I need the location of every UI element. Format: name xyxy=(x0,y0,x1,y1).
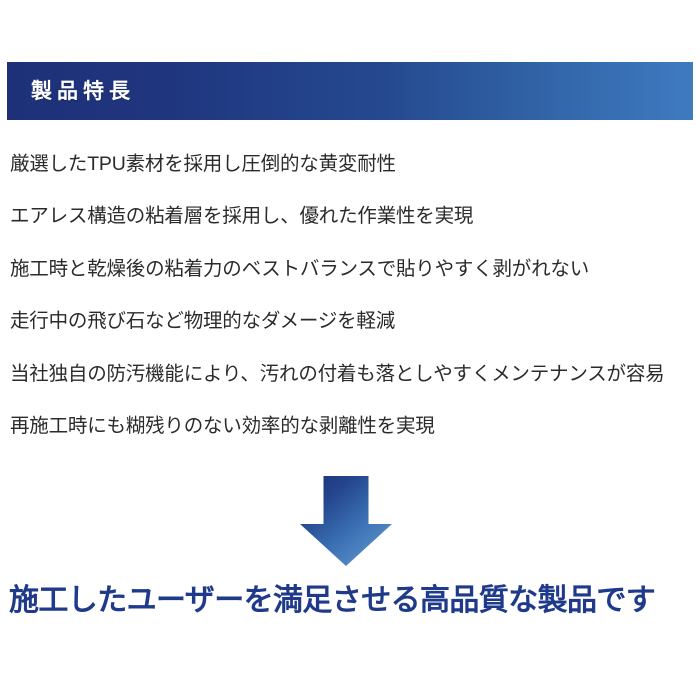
conclusion-banner: 施工したユーザーを満足させる高品質な製品です xyxy=(0,578,700,624)
feature-item-label: 再施工時にも糊残りのない効率的な剥離性を実現 xyxy=(10,417,435,437)
feature-item: エアレス構造の粘着層を採用し、優れた作業性を実現 xyxy=(0,191,700,244)
section-header-bar: 製品特長 xyxy=(7,62,693,120)
feature-list: 厳選したTPU素材を採用し圧倒的な黄変耐性 エアレス構造の粘着層を採用し、優れた… xyxy=(0,138,700,453)
feature-item-label: 走行中の飛び石など物理的なダメージを軽減 xyxy=(10,312,395,332)
feature-item: 再施工時にも糊残りのない効率的な剥離性を実現 xyxy=(0,401,700,454)
arrow-down-icon xyxy=(296,474,396,568)
feature-item-label: エアレス構造の粘着層を採用し、優れた作業性を実現 xyxy=(10,207,473,227)
feature-item: 走行中の飛び石など物理的なダメージを軽減 xyxy=(0,296,700,349)
feature-item-label: 厳選したTPU素材を採用し圧倒的な黄変耐性 xyxy=(10,155,396,175)
conclusion-headline: 施工したユーザーを満足させる高品質な製品です xyxy=(9,586,655,616)
feature-item: 当社独自の防汚機能により、汚れの付着も落としやすくメンテナンスが容易 xyxy=(0,348,700,401)
feature-item: 施工時と乾燥後の粘着力のベストバランスで貼りやすく剥がれない xyxy=(0,243,700,296)
feature-item: 厳選したTPU素材を採用し圧倒的な黄変耐性 xyxy=(0,138,700,191)
feature-item-label: 当社独自の防汚機能により、汚れの付着も落としやすくメンテナンスが容易 xyxy=(10,365,664,385)
product-features-page: 製品特長 厳選したTPU素材を採用し圧倒的な黄変耐性 エアレス構造の粘着層を採用… xyxy=(0,0,700,700)
feature-item-label: 施工時と乾燥後の粘着力のベストバランスで貼りやすく剥がれない xyxy=(10,260,589,280)
page-title: 製品特長 xyxy=(31,81,135,102)
